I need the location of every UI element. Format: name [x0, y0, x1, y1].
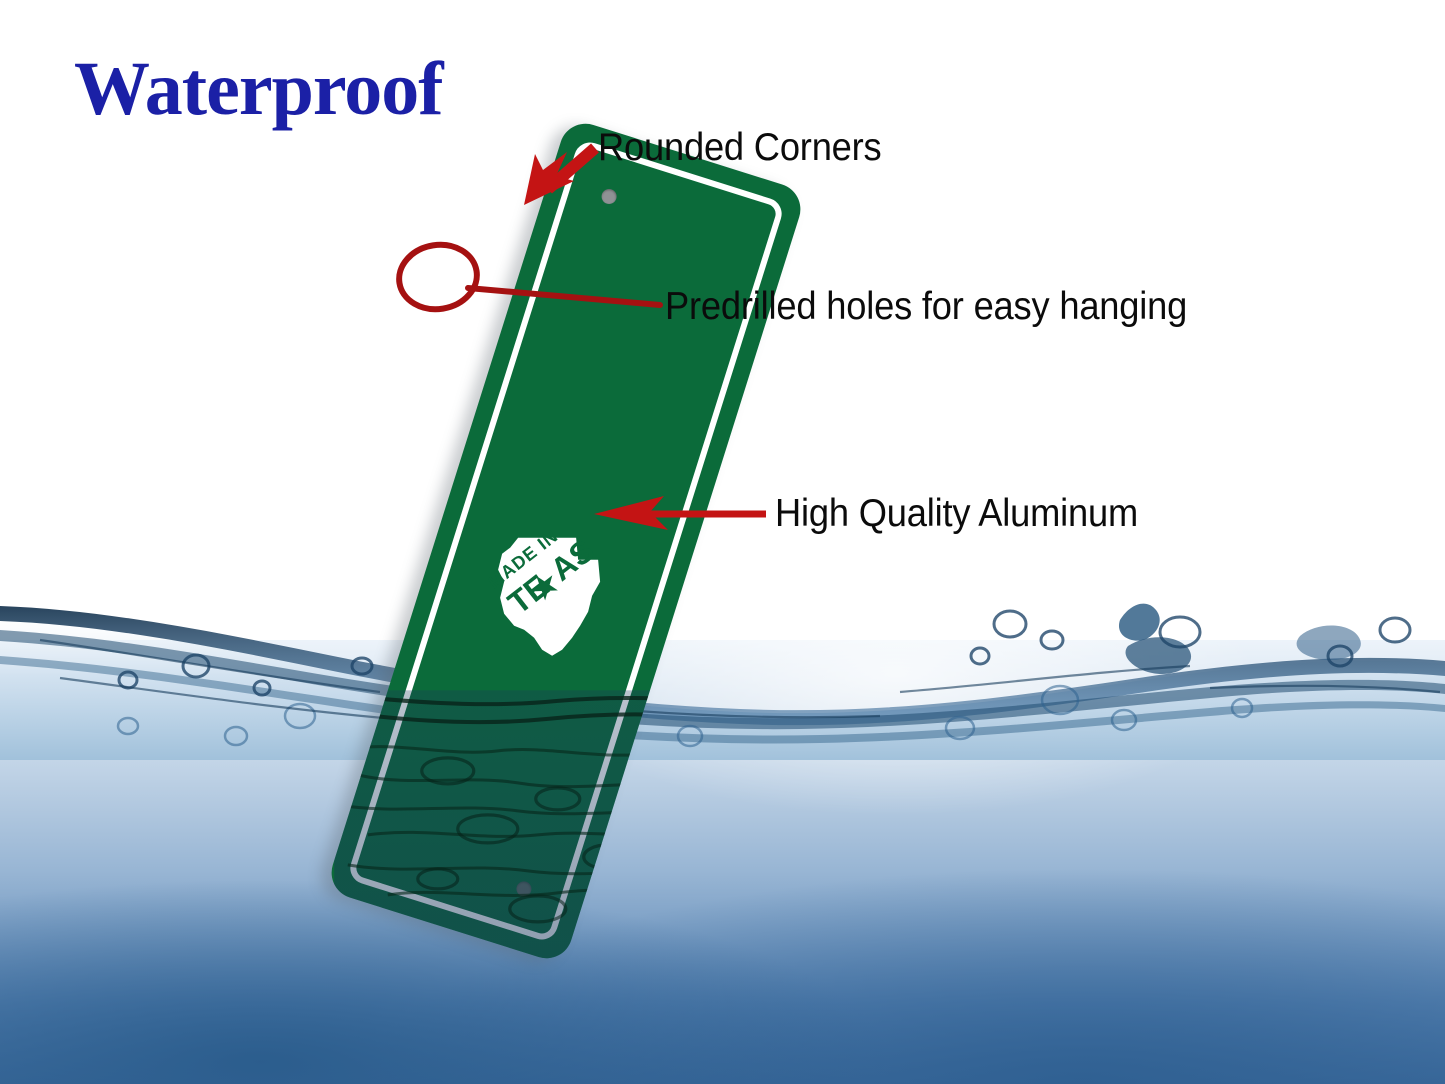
annotation-label-rounded-corners: Rounded Corners: [598, 126, 882, 170]
page-title: Waterproof: [74, 46, 443, 133]
annotation-label-high-quality-aluminum: High Quality Aluminum: [775, 492, 1138, 536]
aluminum-sign: MADE IN TE ★ AS: [325, 117, 807, 965]
product-feature-image: MADE IN TE ★ AS: [0, 0, 1445, 1084]
annotation-label-predrilled-holes: Predrilled holes for easy hanging: [665, 285, 1187, 329]
underwater-ripples: [328, 679, 728, 965]
submerged-portion: [325, 117, 807, 965]
